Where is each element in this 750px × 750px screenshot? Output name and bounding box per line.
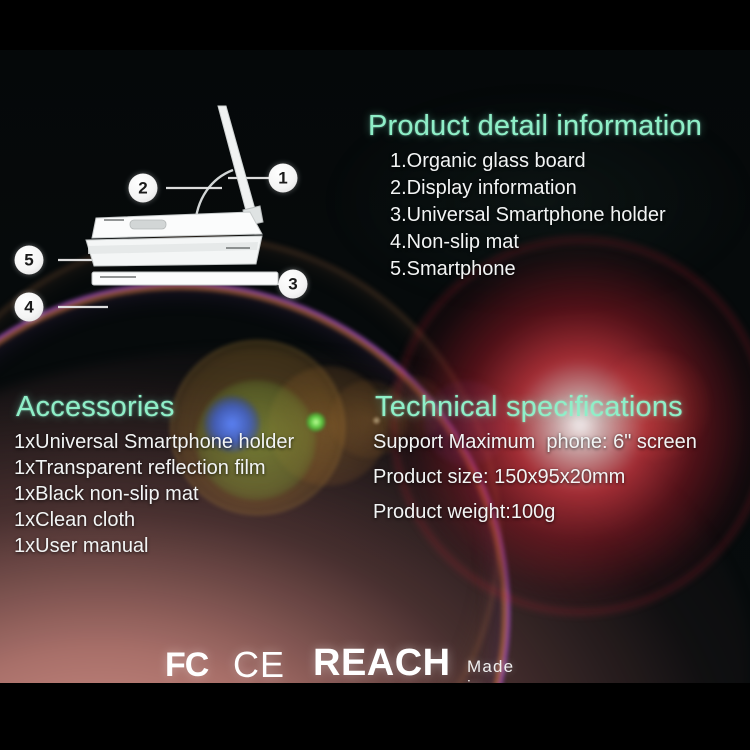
technical-spec-item-3: Product weight:100g (373, 501, 555, 524)
technical-spec-item-1: Support Maximum phone: 6" screen (373, 431, 697, 454)
callout-badge-5[interactable]: 5 (15, 246, 44, 275)
product-detail-item-1: 1.Organic glass board (390, 150, 586, 173)
accessories-heading: Accessories (16, 391, 175, 424)
callout-badge-4[interactable]: 4 (15, 293, 44, 322)
product-detail-item-5: 5.Smartphone (390, 258, 516, 281)
smartphone-shape (92, 212, 262, 238)
red-lens-flare (400, 245, 750, 605)
fcc-logo: FC (165, 646, 208, 683)
product-detail-heading: Product detail information (368, 110, 702, 143)
green-light-dot (306, 412, 326, 432)
product-diagram: 1 2 3 4 5 (0, 50, 360, 310)
technical-spec-item-2: Product size: 150x95x20mm (373, 466, 625, 489)
product-detail-item-4: 4.Non-slip mat (390, 231, 519, 254)
product-info-poster: 1 2 3 4 5 Product detail information 1.O… (0, 0, 750, 750)
product-detail-item-3: 3.Universal Smartphone holder (390, 204, 666, 227)
non-slip-mat-shape (92, 272, 278, 285)
callout-badge-2[interactable]: 2 (129, 174, 158, 203)
photo-plate: 1 2 3 4 5 Product detail information 1.O… (0, 50, 750, 683)
holder-shape (86, 236, 262, 266)
red-flare-ring (392, 238, 750, 614)
glass-board-shape (218, 106, 263, 226)
made-in-label: Made in CHINA (467, 657, 526, 683)
amber-bokeh-medium (268, 366, 388, 486)
product-diagram-svg (0, 50, 360, 310)
callout-badge-1[interactable]: 1 (269, 164, 298, 193)
accessories-item-1: 1xUniversal Smartphone holder (14, 431, 294, 454)
product-detail-item-2: 2.Display information (390, 177, 577, 200)
ce-mark: CE (233, 644, 285, 683)
reach-mark: REACH (313, 642, 451, 683)
accessories-item-5: 1xUser manual (14, 535, 149, 558)
accessories-item-3: 1xBlack non-slip mat (14, 483, 199, 506)
technical-specifications-heading: Technical specifications (375, 391, 683, 424)
callout-badge-3[interactable]: 3 (279, 270, 308, 299)
accessories-item-4: 1xClean cloth (14, 509, 135, 532)
fcc-logo-text: FC (165, 646, 208, 683)
accessories-item-2: 1xTransparent reflection film (14, 457, 266, 480)
